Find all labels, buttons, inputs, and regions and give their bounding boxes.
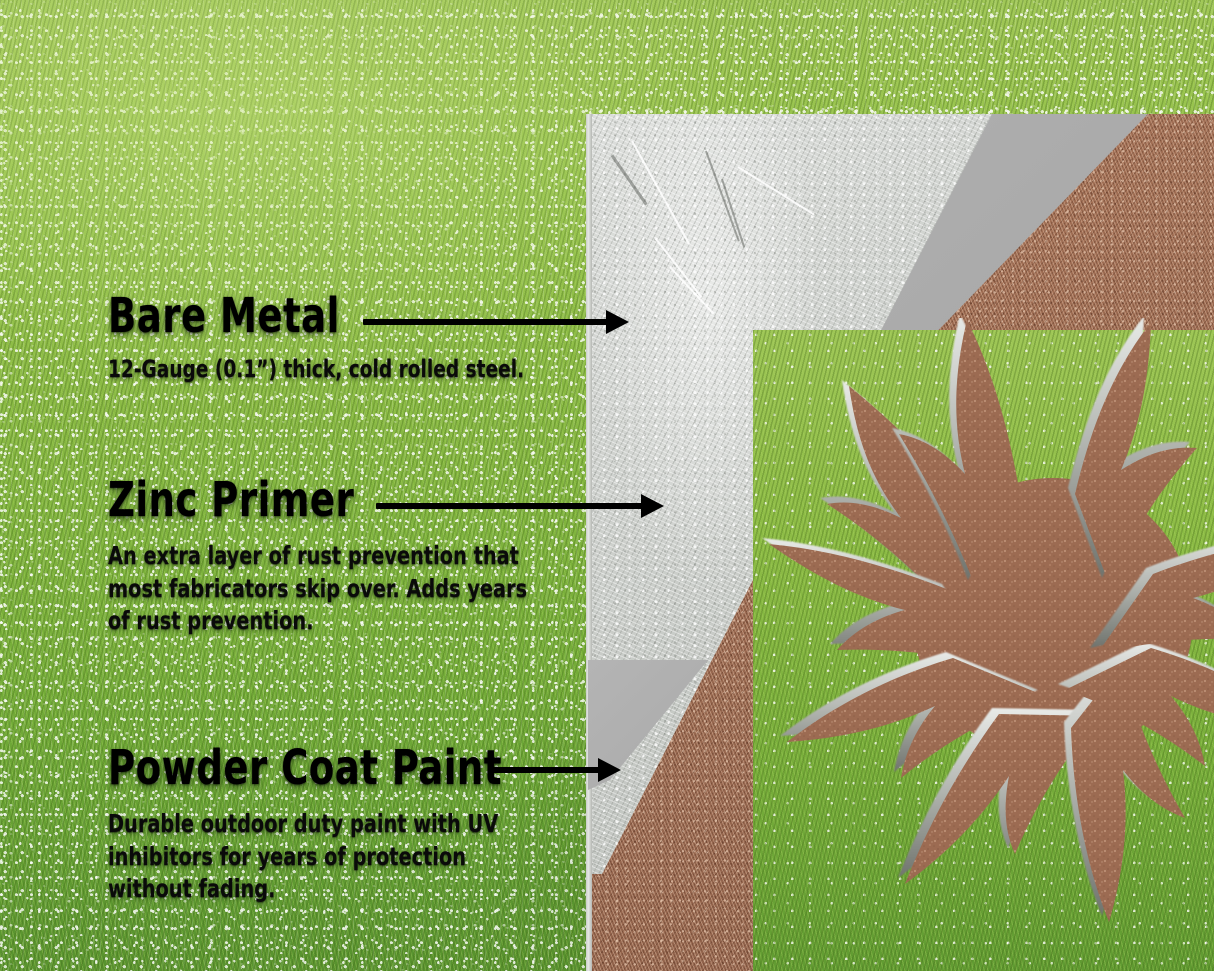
metal-scratch xyxy=(655,238,702,298)
callout-body-line: An extra layer of rust prevention that xyxy=(108,540,527,573)
arrow-to-zinc-primer xyxy=(376,494,664,518)
arrow-shaft xyxy=(493,767,599,773)
arrow-shaft xyxy=(376,503,642,509)
callout-body-powder-coat-paint: Durable outdoor duty paint with UV inhib… xyxy=(108,808,502,906)
callout-body-line: 12-Gauge (0.1”) thick, cold rolled steel… xyxy=(108,354,524,385)
callout-body-line: of rust prevention. xyxy=(108,605,527,638)
metal-scratch xyxy=(721,179,745,248)
callout-body-line: inhibitors for years of protection xyxy=(108,841,502,874)
callout-body-line: without fading. xyxy=(108,873,502,906)
infographic-canvas: Bare Metal 12-Gauge (0.1”) thick, cold r… xyxy=(0,0,1214,971)
metal-scratch xyxy=(705,151,740,242)
metal-scratch xyxy=(669,266,714,314)
metal-scratch xyxy=(737,166,814,215)
callout-body-zinc-primer: An extra layer of rust prevention that m… xyxy=(108,540,527,638)
arrow-shaft xyxy=(363,319,607,325)
arrow-to-powder-coat xyxy=(493,758,621,782)
sunburst-rays-group xyxy=(762,318,1214,922)
arrow-head xyxy=(641,494,664,518)
sunburst-wall-art xyxy=(753,318,1214,971)
callout-body-bare-metal: 12-Gauge (0.1”) thick, cold rolled steel… xyxy=(108,354,524,385)
callout-title-powder-coat-paint: Powder Coat Paint xyxy=(108,744,502,792)
callout-body-line: most fabricators skip over. Adds years xyxy=(108,573,527,606)
callout-body-line: Durable outdoor duty paint with UV xyxy=(108,808,502,841)
callout-bare-metal: Bare Metal 12-Gauge (0.1”) thick, cold r… xyxy=(108,292,592,385)
arrow-head xyxy=(606,310,629,334)
arrow-to-bare-metal xyxy=(363,310,629,334)
arrow-head xyxy=(598,758,621,782)
